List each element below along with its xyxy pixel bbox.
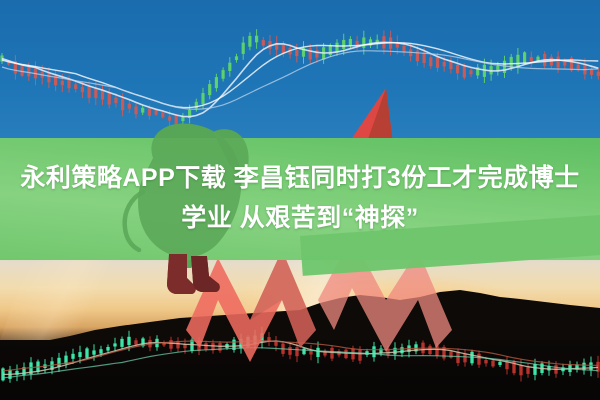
- headline: 永利策略APP下载 李昌钰同时打3份工才完成博士 学业 从艰苦到“神探”: [0, 158, 600, 238]
- news-banner: 永利策略APP下载 李昌钰同时打3份工才完成博士 学业 从艰苦到“神探”: [0, 0, 600, 400]
- headline-line-2: 学业 从艰苦到“神探”: [0, 198, 600, 238]
- headline-line-1: 永利策略APP下载 李昌钰同时打3份工才完成博士: [0, 158, 600, 198]
